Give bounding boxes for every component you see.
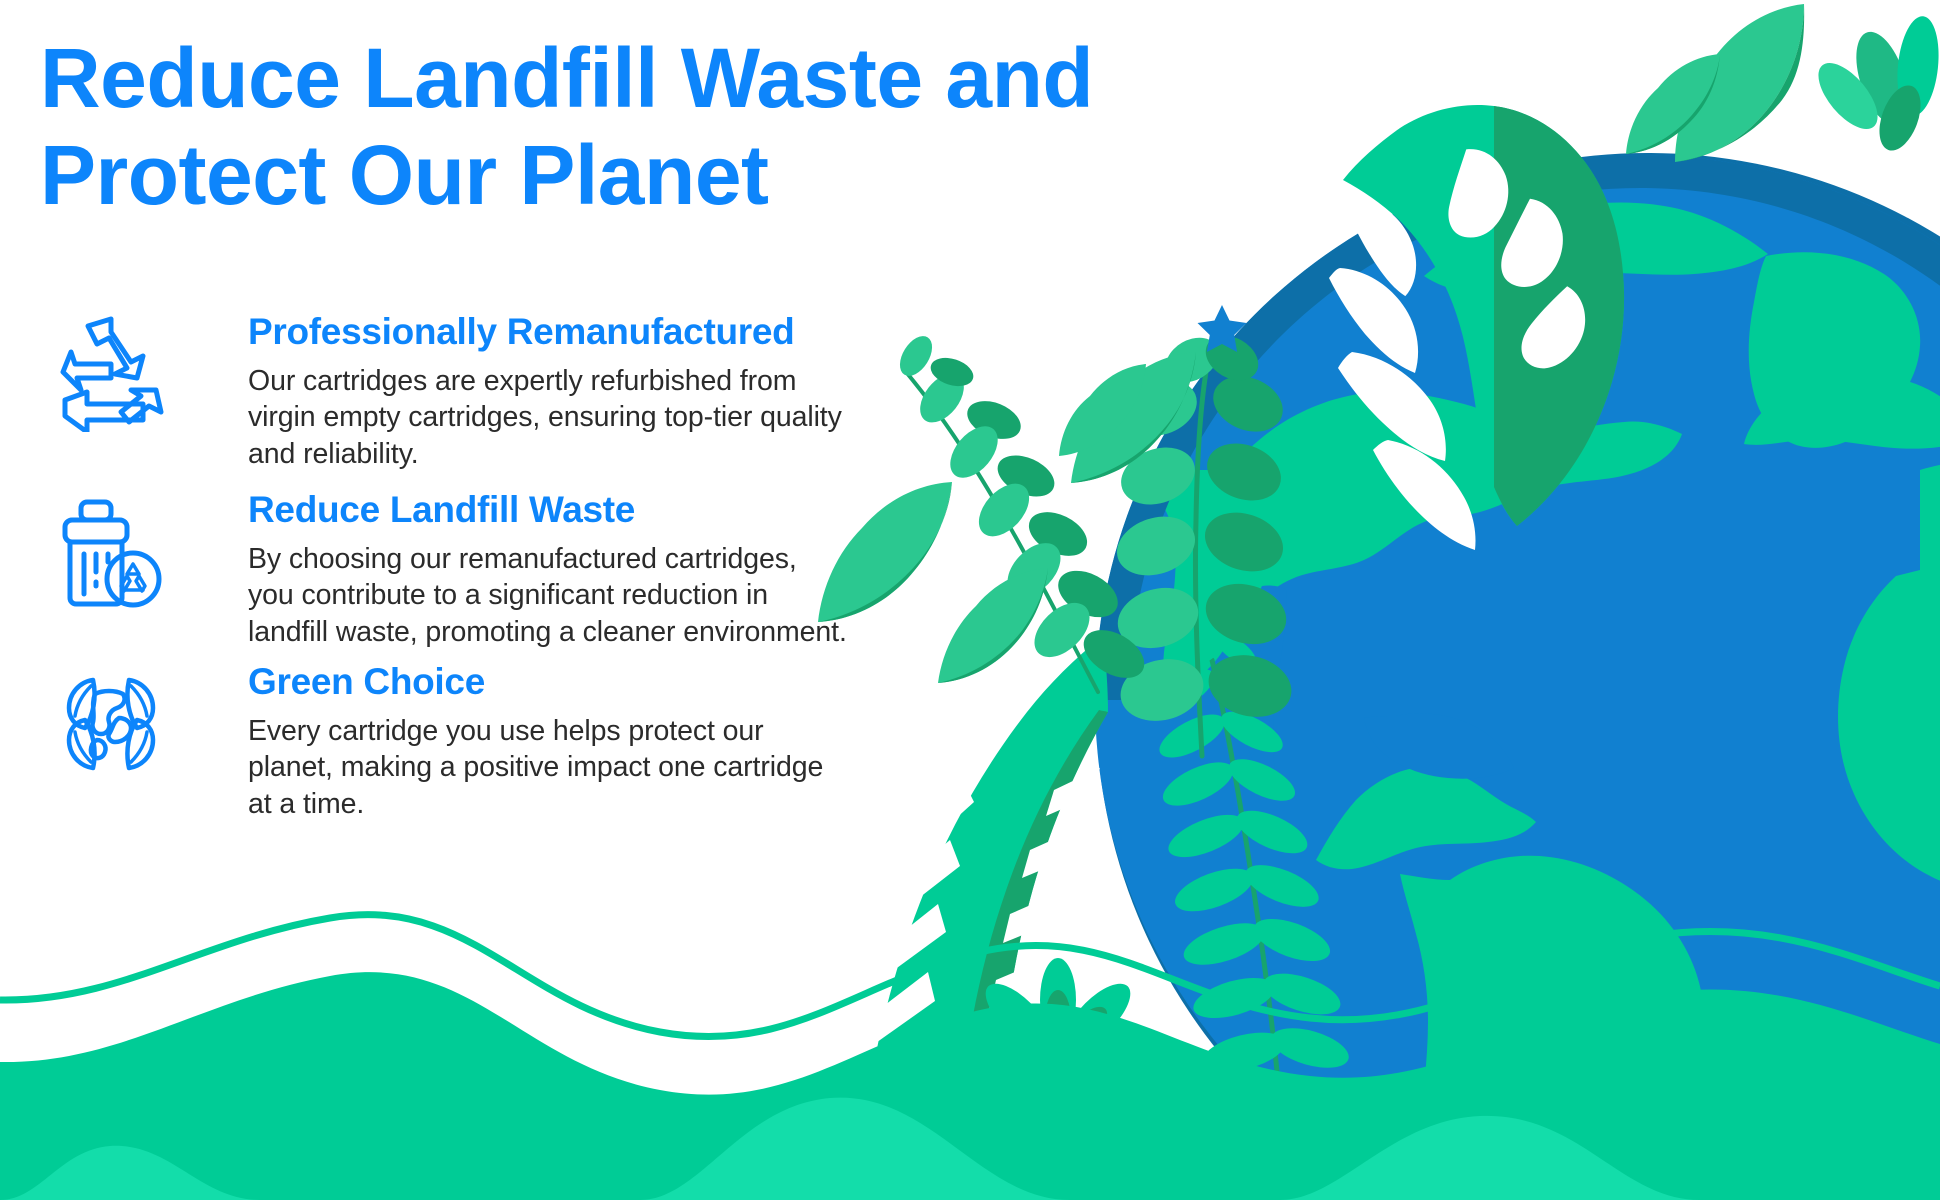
feature-text: Professionally Remanufactured Our cartri… [248, 310, 868, 473]
feature-description: Every cartridge you use helps protect ou… [248, 713, 848, 823]
recycle-arrows-icon [53, 316, 169, 432]
headline-line-2: Protect Our Planet [40, 127, 1140, 224]
feature-description: By choosing our remanufactured cartridge… [248, 541, 848, 651]
feature-title: Reduce Landfill Waste [248, 488, 868, 532]
feature-item-green-choice: Green Choice Every cartridge you use hel… [48, 660, 868, 832]
trash-bin-recycle-icon [53, 494, 169, 610]
feature-title: Professionally Remanufactured [248, 310, 868, 354]
feature-description: Our cartridges are expertly refurbished … [248, 363, 848, 473]
globe-leaves-icon [53, 666, 169, 782]
feature-text: Reduce Landfill Waste By choosing our re… [248, 488, 868, 651]
headline-line-1: Reduce Landfill Waste and [40, 31, 1093, 125]
feature-text: Green Choice Every cartridge you use hel… [248, 660, 868, 823]
text-content: Reduce Landfill Waste and Protect Our Pl… [0, 0, 1940, 1200]
eco-marketing-banner: Reduce Landfill Waste and Protect Our Pl… [0, 0, 1940, 1200]
feature-item-professionally-remanufactured: Professionally Remanufactured Our cartri… [48, 310, 868, 488]
feature-title: Green Choice [248, 660, 868, 704]
page-title: Reduce Landfill Waste and Protect Our Pl… [40, 30, 1140, 225]
feature-item-reduce-landfill-waste: Reduce Landfill Waste By choosing our re… [48, 488, 868, 660]
feature-list: Professionally Remanufactured Our cartri… [48, 310, 868, 832]
